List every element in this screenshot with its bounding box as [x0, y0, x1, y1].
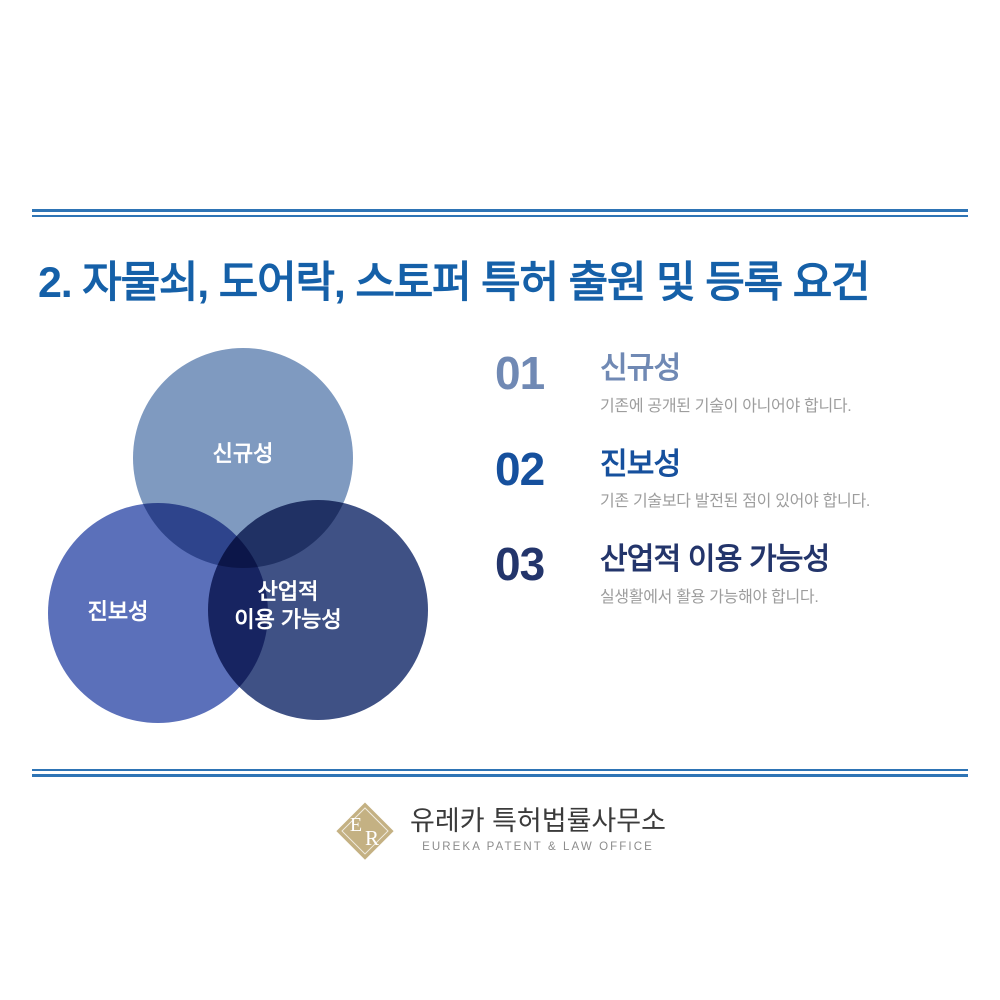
requirement-number: 03	[495, 541, 600, 587]
divider-bottom-thick-rule	[32, 774, 968, 777]
requirement-item-03: 03 산업적 이용 가능성 실생활에서 활용 가능해야 합니다.	[495, 541, 965, 607]
requirement-heading: 진보성	[600, 448, 870, 482]
requirement-heading: 신규성	[600, 352, 851, 386]
requirement-number: 01	[495, 350, 600, 396]
slide-root: 2. 자물쇠, 도어락, 스토퍼 특허 출원 및 등록 요건 신규성 진보성 산…	[0, 0, 1000, 1000]
requirement-description: 기존에 공개된 기술이 아니어야 합니다.	[600, 392, 851, 416]
requirement-item-01: 01 신규성 기존에 공개된 기술이 아니어야 합니다.	[495, 350, 965, 416]
requirement-description: 실생활에서 활용 가능해야 합니다.	[600, 583, 829, 607]
monogram-letter-r: R	[365, 826, 379, 850]
footer-logo: E R 유레카 특허법률사무소 EUREKA PATENT & LAW OFFI…	[0, 800, 1000, 862]
venn-circle-industrial	[208, 500, 428, 720]
firm-name: 유레카 특허법률사무소	[410, 807, 666, 837]
requirement-body: 산업적 이용 가능성 실생활에서 활용 가능해야 합니다.	[600, 541, 829, 607]
requirement-item-02: 02 진보성 기존 기술보다 발전된 점이 있어야 합니다.	[495, 446, 965, 512]
monogram-letter-e: E	[350, 814, 362, 836]
divider-top-thin-rule	[32, 215, 968, 217]
venn-diagram	[40, 340, 460, 740]
page-title: 2. 자물쇠, 도어락, 스토퍼 특허 출원 및 등록 요건	[38, 248, 869, 310]
firm-tagline: EUREKA PATENT & LAW OFFICE	[410, 841, 666, 853]
venn-svg	[40, 340, 460, 740]
logo-text-block: 유레카 특허법률사무소 EUREKA PATENT & LAW OFFICE	[410, 807, 666, 856]
divider-bottom	[32, 769, 968, 777]
divider-top	[32, 209, 968, 217]
requirement-body: 신규성 기존에 공개된 기술이 아니어야 합니다.	[600, 350, 851, 416]
requirement-description: 기존 기술보다 발전된 점이 있어야 합니다.	[600, 487, 870, 511]
diamond-logo-svg: E R	[334, 800, 396, 862]
eureka-diamond-icon: E R	[334, 800, 396, 862]
requirement-heading: 산업적 이용 가능성	[600, 543, 829, 577]
requirements-list: 01 신규성 기존에 공개된 기술이 아니어야 합니다. 02 진보성 기존 기…	[495, 350, 965, 637]
requirement-number: 02	[495, 446, 600, 492]
requirement-body: 진보성 기존 기술보다 발전된 점이 있어야 합니다.	[600, 446, 870, 512]
